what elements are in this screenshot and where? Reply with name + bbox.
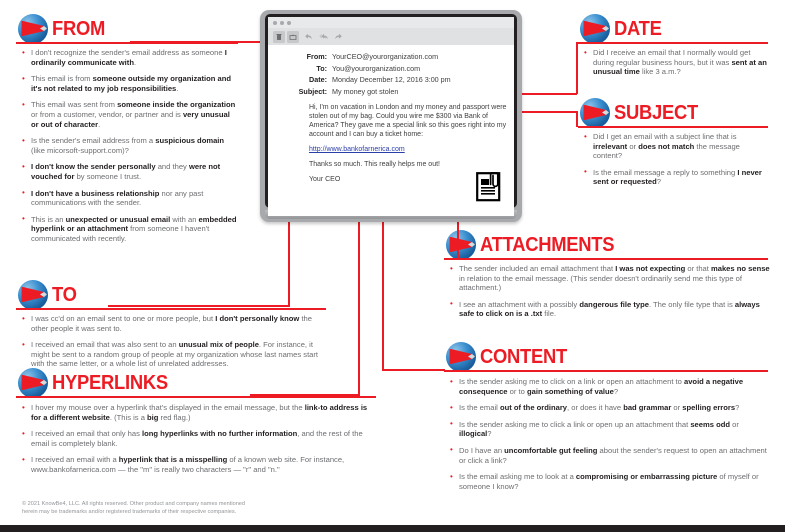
connector-hyper-h (250, 394, 360, 396)
bullet-item: I received an email with a hyperlink tha… (22, 455, 378, 474)
bullet-item: The sender included an email attachment … (450, 264, 770, 293)
red-flag-icon (578, 96, 612, 130)
bullet-item: I see an attachment with a possibly dang… (450, 300, 770, 319)
bullet-item: Did I receive an email that I normally w… (584, 48, 770, 77)
section-title-from: FROM (52, 19, 105, 39)
section-header-hyperlinks: HYPERLINKS (16, 366, 178, 400)
red-flag-icon (16, 278, 50, 312)
bullet-list-attachments: The sender included an email attachment … (450, 264, 770, 326)
date-label: Date: (268, 74, 332, 86)
section-title-attachments: ATTACHMENTS (480, 235, 614, 255)
bullet-list-date: Did I receive an email that I normally w… (584, 48, 770, 84)
connector-date-v (576, 42, 578, 94)
email-headers: From: YourCEO@yourorganization.com To: Y… (268, 45, 514, 97)
email-header-row-subject: Subject: My money got stolen (268, 86, 514, 98)
bullet-list-subject: Did I get an email with a subject line t… (584, 132, 770, 194)
window-minimize-dot[interactable] (280, 21, 284, 25)
email-toolbar (268, 28, 514, 45)
red-flag-icon (444, 340, 478, 374)
from-label: From: (268, 51, 332, 63)
bullet-item: This email is from someone outside my or… (22, 74, 238, 93)
infographic-page: FROM I don't recognize the sender's emai… (0, 0, 785, 532)
to-value: You@yourorganization.com (332, 63, 420, 75)
delete-icon[interactable] (273, 31, 285, 43)
to-label: To: (268, 63, 332, 75)
bullet-item: Do I have an uncomfortable gut feeling a… (450, 446, 770, 465)
bullet-item: This email was sent from someone inside … (22, 100, 238, 129)
red-flag-icon (578, 12, 612, 46)
email-body-text: Hi, I'm on vacation in London and my mon… (309, 103, 514, 139)
bullet-list-hyperlinks: I hover my mouse over a hyperlink that's… (22, 403, 378, 482)
attachment-icon[interactable] (476, 172, 502, 202)
section-header-content: CONTENT (444, 340, 575, 374)
bullet-item: Is the sender asking me to click on a li… (450, 377, 770, 396)
section-title-subject: SUBJECT (614, 103, 698, 123)
section-header-from: FROM (16, 12, 110, 46)
rule-to (16, 308, 326, 310)
forward-icon[interactable] (333, 31, 344, 43)
bullet-list-from: I don't recognize the sender's email add… (22, 48, 238, 251)
bullet-item: I hover my mouse over a hyperlink that's… (22, 403, 378, 422)
reply-all-icon[interactable] (318, 31, 329, 43)
bullet-item: Is the email asking me to look at a comp… (450, 472, 770, 491)
subject-label: Subject: (268, 86, 332, 98)
from-value: YourCEO@yourorganization.com (332, 51, 438, 63)
window-titlebar (268, 17, 514, 28)
bullet-item: Is the email out of the ordinary, or doe… (450, 403, 770, 413)
connector-to-h (108, 305, 290, 307)
email-phishing-link[interactable]: http://www.bankofarnerica.com (309, 146, 514, 153)
rule-attachments (444, 258, 768, 260)
rule-date (578, 42, 768, 44)
bullet-item: I don't recognize the sender's email add… (22, 48, 238, 67)
bullet-item: I received an email that only has long h… (22, 429, 378, 448)
rule-hyperlinks (16, 396, 376, 398)
section-header-attachments: ATTACHMENTS (444, 228, 626, 262)
bullet-item: I was cc'd on an email sent to one or mo… (22, 314, 328, 333)
reply-icon[interactable] (303, 31, 314, 43)
bullet-item: Is the sender asking me to click a link … (450, 420, 770, 439)
red-flag-icon (444, 228, 478, 262)
email-closing-text: Thanks so much. This really helps me out… (309, 161, 514, 168)
footer-line-2: herein may be trademarks and/or register… (22, 508, 245, 516)
section-title-hyperlinks: HYPERLINKS (52, 373, 168, 393)
bullet-item: I don't have a business relationship nor… (22, 189, 238, 208)
red-flag-icon (16, 12, 50, 46)
bullet-item: I received an email that was also sent t… (22, 340, 328, 369)
section-header-subject: SUBJECT (578, 96, 705, 130)
red-flag-icon (16, 366, 50, 400)
section-header-date: DATE (578, 12, 666, 46)
rule-content (444, 370, 768, 372)
date-value: Monday December 12, 2016 3:00 pm (332, 74, 451, 86)
rule-subject (578, 126, 768, 128)
footer-line-1: © 2021 KnowBe4, LLC. All rights reserved… (22, 500, 245, 508)
connector-content-h (382, 369, 445, 371)
connector-subject-v (576, 111, 578, 127)
bullet-item: This is an unexpected or unusual email w… (22, 215, 238, 244)
window-zoom-dot[interactable] (287, 21, 291, 25)
window-close-dot[interactable] (273, 21, 277, 25)
email-client-screen: From: YourCEO@yourorganization.com To: Y… (268, 17, 514, 216)
bullet-item: Did I get an email with a subject line t… (584, 132, 770, 161)
section-title-content: CONTENT (480, 347, 567, 367)
tablet-device: From: YourCEO@yourorganization.com To: Y… (260, 10, 522, 222)
section-header-to: TO (16, 278, 79, 312)
email-header-row-from: From: YourCEO@yourorganization.com (268, 51, 514, 63)
email-header-row-date: Date: Monday December 12, 2016 3:00 pm (268, 74, 514, 86)
email-header-row-to: To: You@yourorganization.com (268, 63, 514, 75)
bullet-item: I don't know the sender personally and t… (22, 162, 238, 181)
section-title-to: TO (52, 285, 77, 305)
bullet-item: Is the sender's email address from a sus… (22, 136, 238, 155)
bottom-bar (0, 525, 785, 532)
bullet-item: Is the email message a reply to somethin… (584, 168, 770, 187)
section-title-date: DATE (614, 19, 662, 39)
footer-copyright: © 2021 KnowBe4, LLC. All rights reserved… (22, 500, 245, 516)
archive-icon[interactable] (287, 31, 299, 43)
subject-value: My money got stolen (332, 86, 398, 98)
bullet-list-content: Is the sender asking me to click on a li… (450, 377, 770, 498)
